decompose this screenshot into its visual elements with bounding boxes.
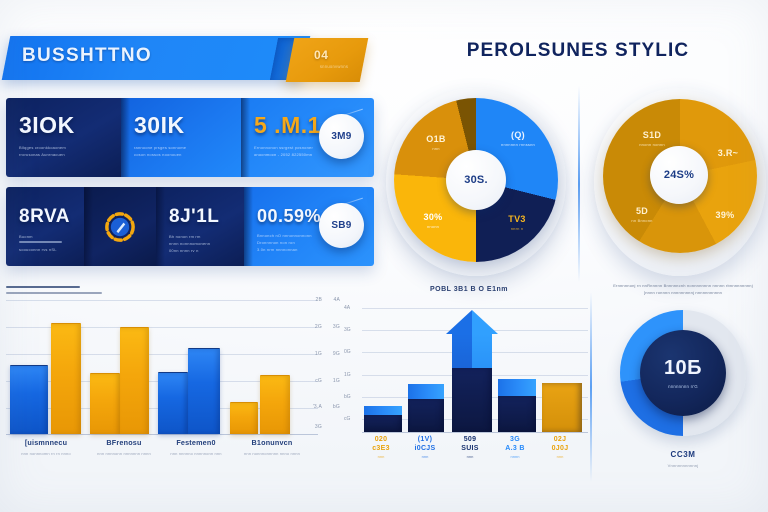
kpi-subtext: rannoone prsges sonnome coson nossos noo… bbox=[134, 145, 231, 159]
bar-plot-area bbox=[6, 304, 318, 434]
column-3-arrow[interactable] bbox=[452, 310, 492, 432]
bar-chart-subtitle-bar bbox=[6, 292, 102, 294]
kpi-subtext: Bnnonch nO nnnonnonnonn Dronnnnon non ro… bbox=[257, 233, 316, 253]
kpi-sub-line: Bh nonon rm rm bbox=[169, 234, 234, 241]
column-4[interactable] bbox=[498, 379, 536, 432]
donut-caption-line-1: Ernnnnnonj rn nnRnnnnn Bnnnnncnh nonnnnn… bbox=[608, 282, 758, 289]
bar-gold-2b[interactable] bbox=[120, 327, 149, 434]
banner-title: BUSSHTTNO bbox=[22, 45, 152, 67]
kpi-badge-label: 3M9 bbox=[331, 131, 351, 142]
y-axis-tick: 3G bbox=[344, 327, 351, 333]
kpi-sub-line: Ernonnonon ssrgest posnoner bbox=[254, 145, 316, 152]
gridline bbox=[6, 300, 318, 301]
kpi-card-7[interactable]: 00.59% Bnnonch nO nnnonnonnonn Dronnnnon… bbox=[244, 187, 374, 266]
vertical-divider-top bbox=[578, 86, 580, 282]
bar-category-4: B1onunvcn nnn nonnnonnnnn nnno nnnn bbox=[232, 438, 312, 456]
donut-center-sub: nnnnnnnn n'G bbox=[668, 384, 698, 389]
kpi-card-2[interactable]: 30IK rannoone prsges sonnome coson nosso… bbox=[121, 98, 241, 177]
kpi-sub-line: soouconnn rvs nSL bbox=[19, 247, 74, 254]
donut-center-label: 10Б bbox=[664, 357, 702, 380]
bar-gold-2a[interactable] bbox=[90, 373, 120, 434]
column-label-3: 509 SUIS nnn bbox=[448, 436, 492, 459]
y-axis-tick: cG bbox=[344, 416, 350, 422]
kpi-row-1: 3IOK Bllqges croonkkoaonem rrorusonas Au… bbox=[6, 98, 374, 177]
card-seam bbox=[156, 187, 165, 266]
y-axis-tick-right: 9G bbox=[333, 351, 340, 357]
column-2[interactable] bbox=[408, 384, 444, 432]
donut-center-hub: 24S% bbox=[650, 146, 708, 204]
kpi-sub-line: Dronnnnon non ron bbox=[257, 240, 316, 247]
bar-blue-3a[interactable] bbox=[158, 372, 188, 434]
kpi-subtext: Ernonnonon ssrgest posnoner onocnmocn - … bbox=[254, 145, 316, 159]
axis-line bbox=[362, 432, 588, 433]
kpi-card-5-icon[interactable] bbox=[84, 187, 156, 266]
column-chart-panel[interactable]: POBL 3B1 B O E1nm 4A 3G 0G 1G bG cG bbox=[340, 284, 588, 484]
tab-number: 04 bbox=[314, 48, 329, 62]
bar-category-3: Festemen0 nnn nnnnno nnnnnonn nnn bbox=[158, 438, 234, 456]
column-plot-area bbox=[362, 302, 588, 432]
column-label-1: 020 c3E3 nnn bbox=[360, 436, 402, 459]
y-axis-tick: 2B bbox=[315, 297, 322, 303]
y-axis-tick: 0G bbox=[344, 349, 351, 355]
kpi-value: 3IOK bbox=[19, 114, 111, 137]
y-axis-tick: 4A bbox=[344, 305, 350, 311]
kpi-value: 8RVA bbox=[19, 207, 74, 226]
gear-ring-icon bbox=[99, 206, 141, 248]
kpi-row-2: 8RVA Buonm soouconnn rvs nSL 8J' bbox=[6, 187, 374, 266]
y-axis-tick-right: 1G bbox=[333, 378, 340, 384]
bar-chart-panel[interactable]: 2B 2G 1G cG '3.A 3G 4A 3G 9G 1G bG [uism… bbox=[6, 286, 336, 486]
card-seam bbox=[84, 187, 93, 266]
column-1[interactable] bbox=[364, 406, 402, 432]
card-seam bbox=[244, 187, 253, 266]
kpi-card-3[interactable]: 5 .M.1 Ernonnonon ssrgest posnoner onocn… bbox=[241, 98, 374, 177]
bar-chart-header bbox=[6, 286, 102, 298]
kpi-sub-line: 3.0n nrm nnnnonnan bbox=[257, 247, 316, 254]
donut-chart-left[interactable]: 30S. (Q) nnnnnnn rnnssnn TV3 nnrn n 30% … bbox=[386, 88, 566, 276]
donut-center-hub: 10Б nnnnnnnn n'G bbox=[640, 330, 726, 416]
kpi-sub-line: Bnnonch nO nnnonnonnonn bbox=[257, 233, 316, 240]
y-axis-tick-right: 3G bbox=[333, 324, 340, 330]
donut-footer-label: CC3M bbox=[600, 450, 766, 459]
dashboard-canvas: BUSSHTTNO 04 snnuonvwnns 3IOK Bllqges cr… bbox=[0, 0, 768, 512]
bar-blue-3b[interactable] bbox=[188, 348, 220, 434]
tab-caption: snnuonvwnns bbox=[306, 64, 362, 70]
column-label-5: 02J 0J0J nnn bbox=[538, 436, 582, 459]
kpi-sub-line: 00nn nnnn rv n bbox=[169, 248, 234, 255]
donut-footer-sub: Vnnnnnnnnnnnj bbox=[600, 463, 766, 468]
kpi-sub-line: nnnn nonnnomonenn bbox=[169, 241, 234, 248]
kpi-subtext: Bh nonon rm rm nnnn nonnnomonenn 00nn nn… bbox=[169, 234, 234, 254]
kpi-value: 5 .M.1 bbox=[254, 114, 316, 137]
kpi-value: 00.59% bbox=[257, 207, 316, 225]
donut-center-hub: 30S. bbox=[446, 150, 506, 210]
kpi-sub-line: Buonm bbox=[19, 234, 74, 241]
kpi-card-1[interactable]: 3IOK Bllqges croonkkoaonem rrorusonas Au… bbox=[6, 98, 121, 177]
donut-caption: Ernnnnnonj rn nnRnnnnn Bnnnnncnh nonnnnn… bbox=[608, 282, 758, 296]
arrow-head-left bbox=[446, 310, 472, 334]
bar-gold-4b[interactable] bbox=[260, 375, 290, 434]
y-axis-tick: bG bbox=[344, 394, 351, 400]
bar-gold-1[interactable] bbox=[51, 323, 81, 434]
column-label-2: (1V) i0CJS nnn bbox=[404, 436, 446, 459]
kpi-subtext: Buonm soouconnn rvs nSL bbox=[19, 234, 74, 254]
kpi-sub-bar bbox=[19, 241, 62, 244]
kpi-sub-line: Bllqges croonkkoaonem bbox=[19, 145, 111, 152]
donut-panel-bottom-right[interactable]: Ernnnnnonj rn nnRnnnnn Bnnnnncnh nonnnnn… bbox=[600, 282, 766, 484]
bar-blue-1[interactable] bbox=[10, 365, 48, 434]
kpi-value: 30IK bbox=[134, 114, 231, 137]
kpi-subtext: Bllqges croonkkoaonem rrorusonas Aunrnac… bbox=[19, 145, 111, 159]
kpi-sub-line: rrorusonas Aunrnacuen bbox=[19, 152, 111, 159]
card-seam bbox=[121, 98, 130, 177]
kpi-sub-line: onocnmocn - 2052 822550mn bbox=[254, 152, 316, 159]
donut-caption-line-2: [nnnn ronnnn nnnnnnnnnj nnnnnnnnnnn bbox=[608, 289, 758, 296]
bar-category-1: [uismnnecu nnn nonnnomn rn rn nnno bbox=[8, 438, 84, 456]
donut-chart-right[interactable]: 24S% S1D nnonn nonnn 3.R~ 39% 5D nn Bnno… bbox=[594, 88, 766, 276]
bar-chart-title-bar bbox=[6, 286, 80, 288]
donut-footer: CC3M Vnnnnnnnnnnnj bbox=[600, 450, 766, 468]
column-5[interactable] bbox=[542, 383, 582, 432]
bar-gold-4a[interactable] bbox=[230, 402, 258, 434]
section-title: PEROLSUNES STYLIC bbox=[392, 40, 764, 62]
axis-line bbox=[6, 434, 318, 435]
donut-center-label: 24S% bbox=[664, 169, 694, 181]
kpi-badge[interactable]: 3M9 bbox=[319, 114, 364, 159]
bar-category-2: BFrenosu nnn nnnnonn nnnnnnn nnnn bbox=[86, 438, 162, 456]
kpi-sub-line: coson nossos noonouen bbox=[134, 152, 231, 159]
donut-center-label: 30S. bbox=[464, 174, 487, 186]
column-label-4: 3G A.3 B nnnn bbox=[494, 436, 536, 459]
kpi-badge[interactable]: SB9 bbox=[319, 203, 364, 248]
kpi-card-6[interactable]: 8J'1L Bh nonon rm rm nnnn nonnnomonenn 0… bbox=[156, 187, 244, 266]
column-chart-title: POBL 3B1 B O E1nm bbox=[384, 286, 554, 293]
kpi-sub-line: rannoone prsges sonnome bbox=[134, 145, 231, 152]
kpi-value: 8J'1L bbox=[169, 207, 234, 226]
kpi-card-4[interactable]: 8RVA Buonm soouconnn rvs nSL bbox=[6, 187, 84, 266]
y-axis-tick: 1G bbox=[344, 372, 351, 378]
arrow-head-right bbox=[472, 310, 498, 334]
y-axis-tick-right: bG bbox=[333, 404, 340, 410]
card-seam bbox=[241, 98, 250, 177]
kpi-badge-label: SB9 bbox=[331, 220, 351, 231]
vertical-divider-bottom bbox=[590, 292, 592, 482]
